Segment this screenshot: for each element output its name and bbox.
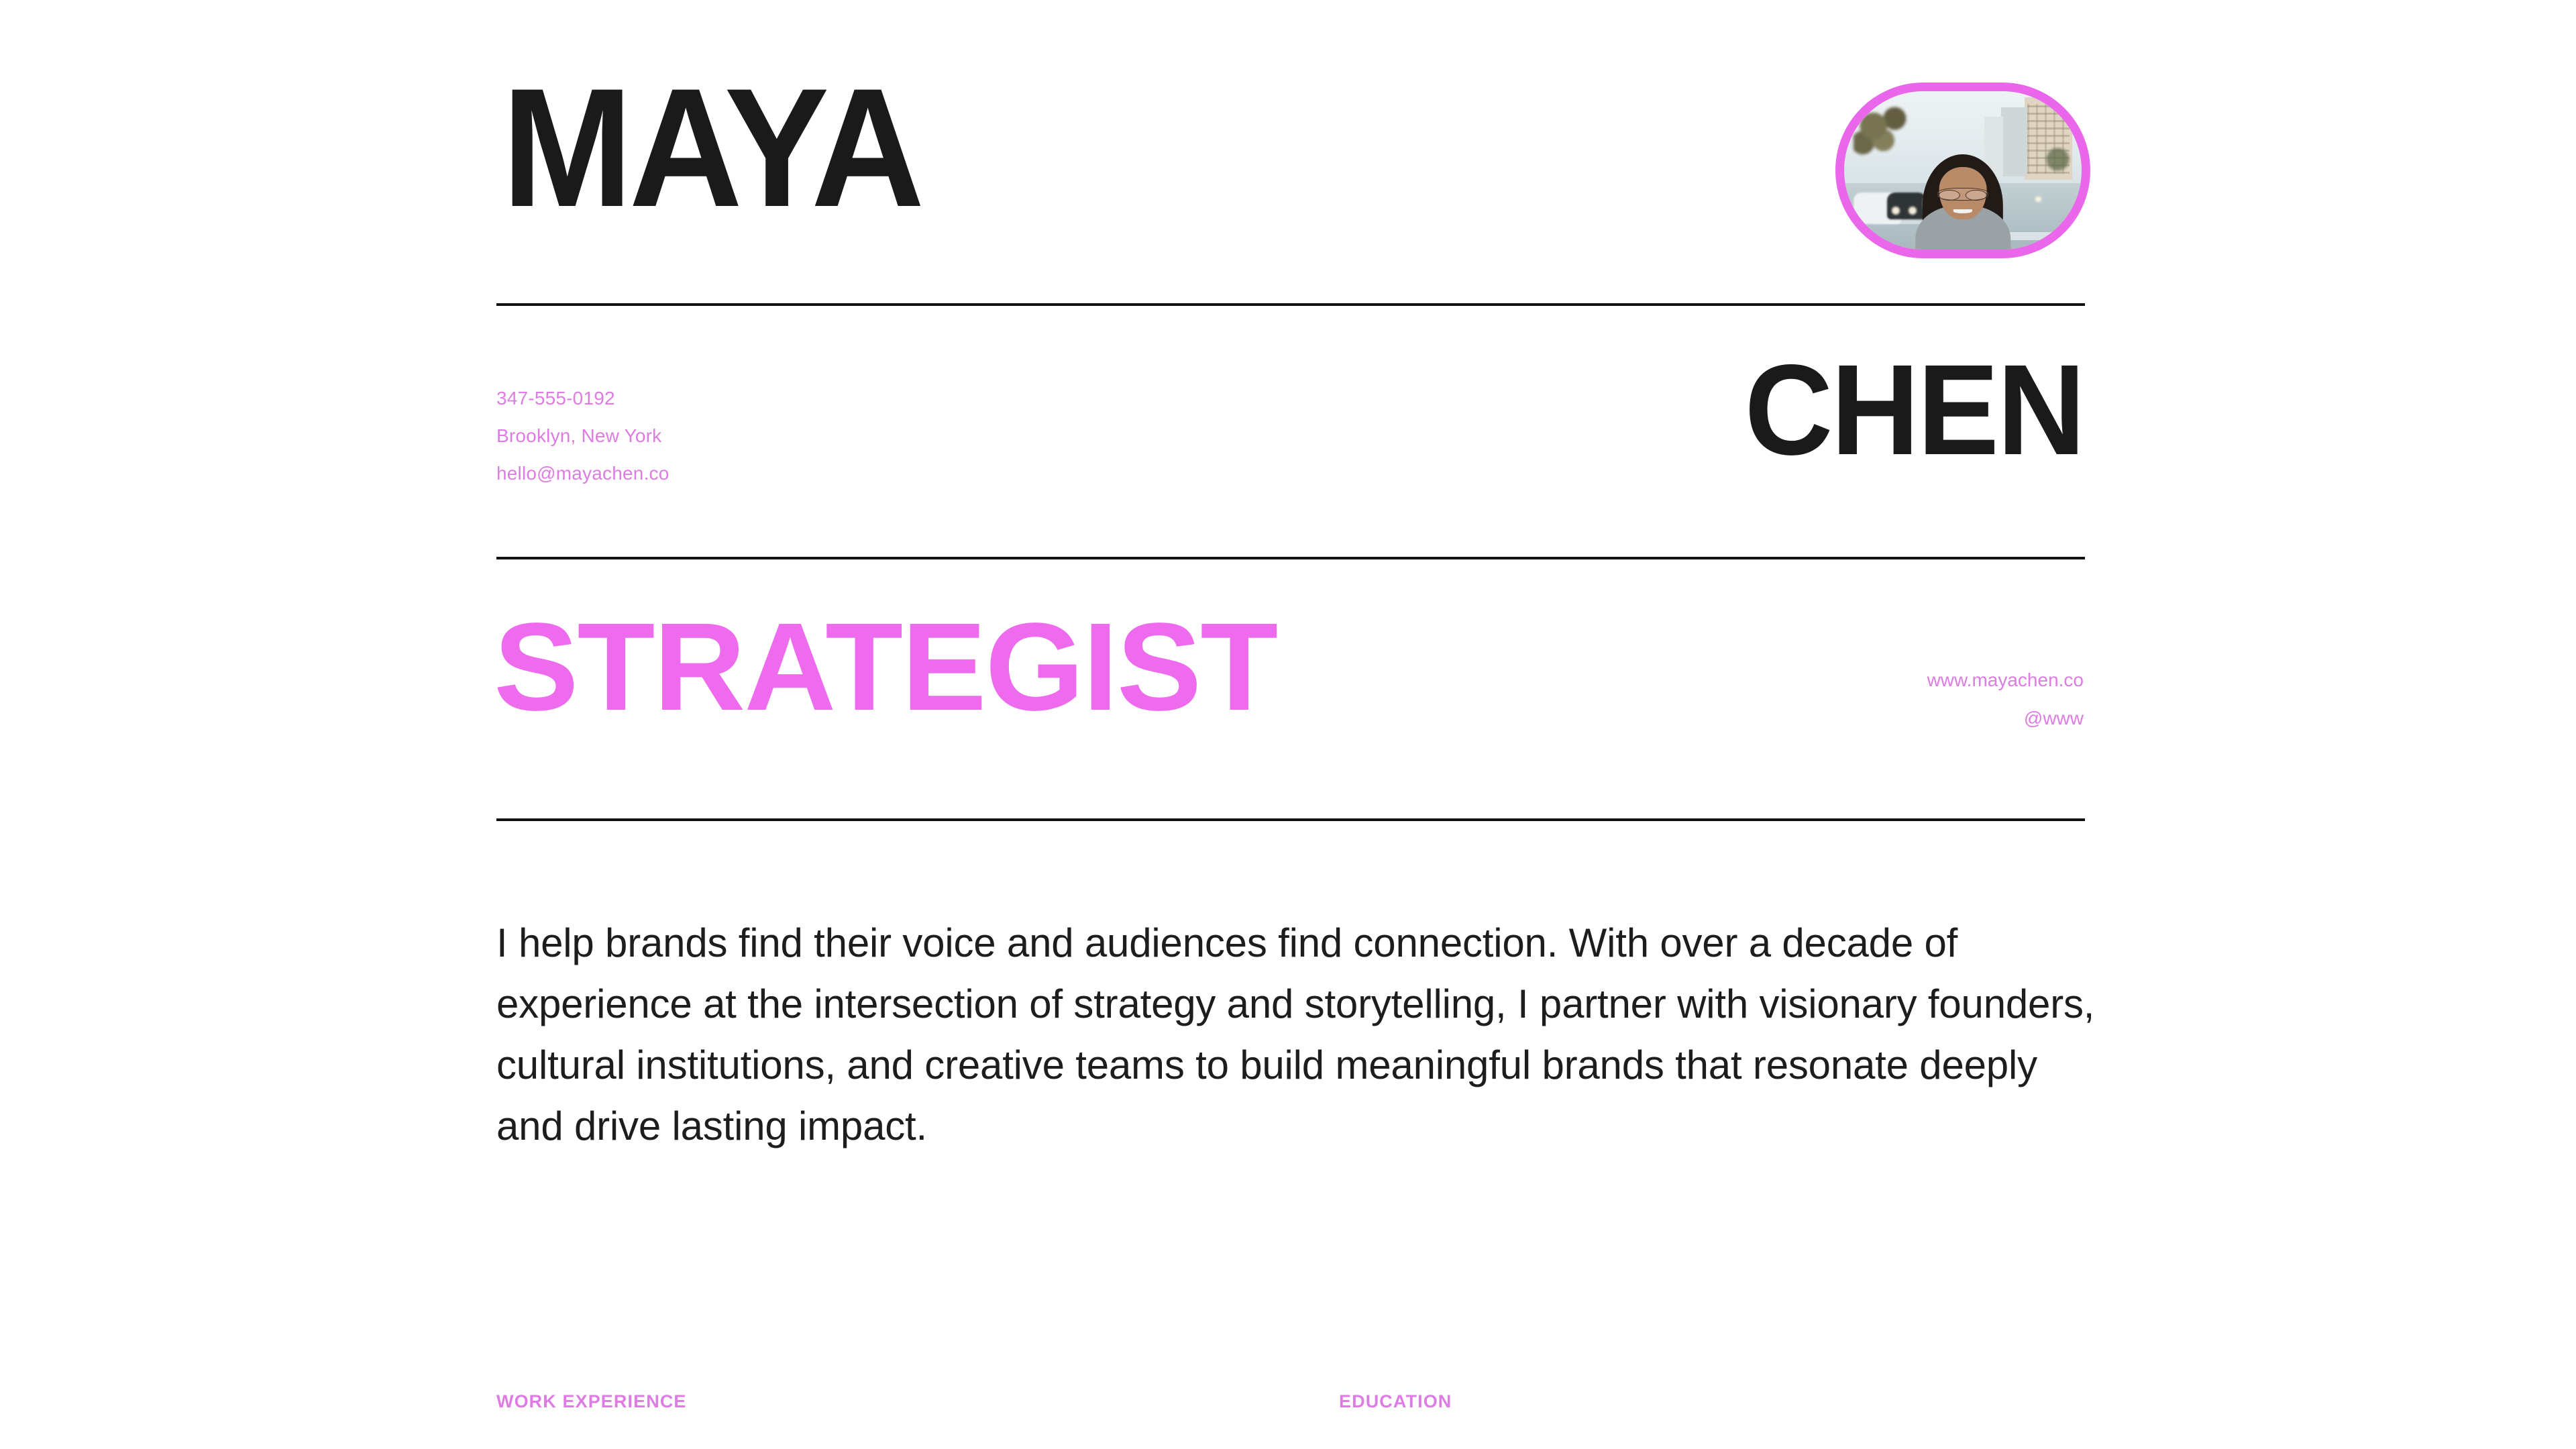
photo-car xyxy=(1887,193,1927,219)
contact-email[interactable]: hello@mayachen.co xyxy=(496,455,669,492)
first-name-heading: MAYA xyxy=(502,74,921,223)
contact-block: 347-555-0192 Brooklyn, New York hello@ma… xyxy=(496,380,669,492)
summary-paragraph: I help brands find their voice and audie… xyxy=(496,912,2100,1157)
role-heading: STRATEGIST xyxy=(494,605,1277,730)
photo-headlight xyxy=(1892,207,1900,215)
glasses-icon xyxy=(1937,188,1988,201)
last-name-heading: CHEN xyxy=(1745,354,2084,467)
avatar xyxy=(1835,83,2090,258)
contact-phone[interactable]: 347-555-0192 xyxy=(496,380,669,417)
contact-location: Brooklyn, New York xyxy=(496,417,669,455)
photo-tree xyxy=(1854,101,1920,164)
divider-rule-top xyxy=(496,303,2085,306)
photo-tree xyxy=(2039,139,2077,180)
photo-headlight xyxy=(1909,207,1917,215)
section-heading-education: EDUCATION xyxy=(1339,1391,1452,1412)
portrait-photo xyxy=(1844,91,2082,250)
links-block: www.mayachen.co @www xyxy=(1927,661,2084,737)
photo-headlight xyxy=(2035,197,2041,202)
divider-rule-bottom xyxy=(496,818,2085,821)
website-link[interactable]: www.mayachen.co xyxy=(1927,661,2084,699)
social-handle-link[interactable]: @www xyxy=(1927,699,2084,737)
photo-building xyxy=(2001,107,2027,177)
section-heading-work-experience: WORK EXPERIENCE xyxy=(496,1391,687,1412)
divider-rule-middle xyxy=(496,557,2085,559)
resume-page: MAYA 347-555-0 xyxy=(0,0,2576,1449)
